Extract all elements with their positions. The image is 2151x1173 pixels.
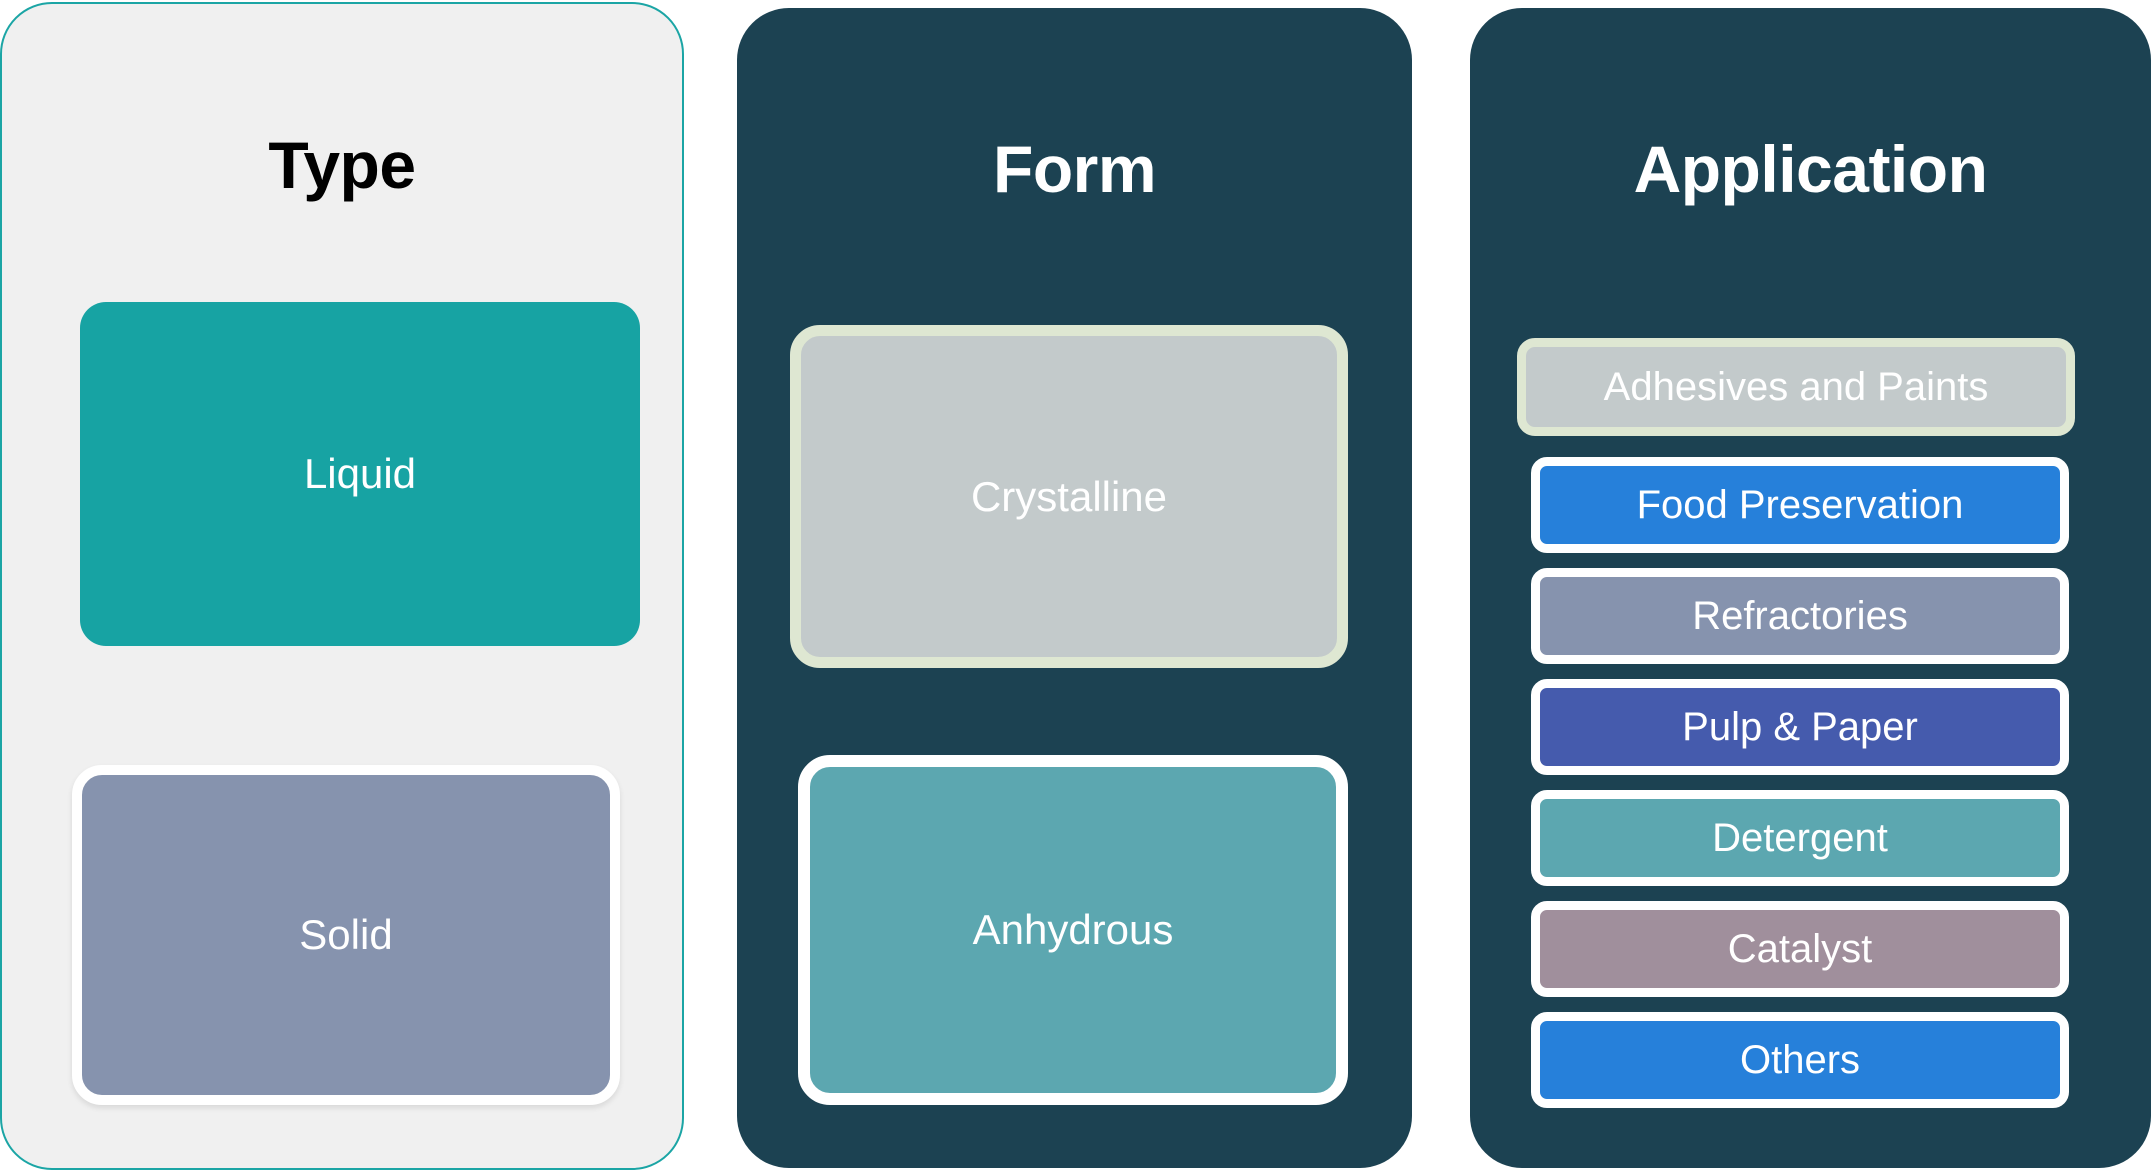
node-anhydrous-label: Anhydrous [973, 906, 1174, 954]
node-others-label: Others [1740, 1038, 1860, 1083]
node-food-preservation-label: Food Preservation [1637, 483, 1964, 528]
node-detergent[interactable]: Detergent [1531, 790, 2069, 886]
column-title-type: Type [2, 127, 682, 203]
column-title-application: Application [1470, 131, 2151, 207]
node-crystalline[interactable]: Crystalline [790, 325, 1348, 668]
node-catalyst-label: Catalyst [1728, 927, 1873, 972]
node-solid-label: Solid [299, 911, 392, 959]
node-catalyst[interactable]: Catalyst [1531, 901, 2069, 997]
node-solid[interactable]: Solid [72, 765, 620, 1105]
node-adhesives-and-paints-label: Adhesives and Paints [1604, 365, 1989, 410]
node-crystalline-label: Crystalline [971, 473, 1167, 521]
node-pulp-and-paper[interactable]: Pulp & Paper [1531, 679, 2069, 775]
node-liquid-label: Liquid [304, 450, 416, 498]
diagram-canvas: Type Liquid Solid Form Crystalline Anhyd… [0, 0, 2151, 1173]
node-adhesives-and-paints[interactable]: Adhesives and Paints [1517, 338, 2075, 436]
node-detergent-label: Detergent [1712, 816, 1888, 861]
node-pulp-and-paper-label: Pulp & Paper [1682, 705, 1918, 750]
node-food-preservation[interactable]: Food Preservation [1531, 457, 2069, 553]
node-liquid[interactable]: Liquid [80, 302, 640, 646]
column-title-form: Form [737, 131, 1412, 207]
node-refractories[interactable]: Refractories [1531, 568, 2069, 664]
node-others[interactable]: Others [1531, 1012, 2069, 1108]
node-refractories-label: Refractories [1692, 594, 1908, 639]
node-anhydrous[interactable]: Anhydrous [798, 755, 1348, 1105]
